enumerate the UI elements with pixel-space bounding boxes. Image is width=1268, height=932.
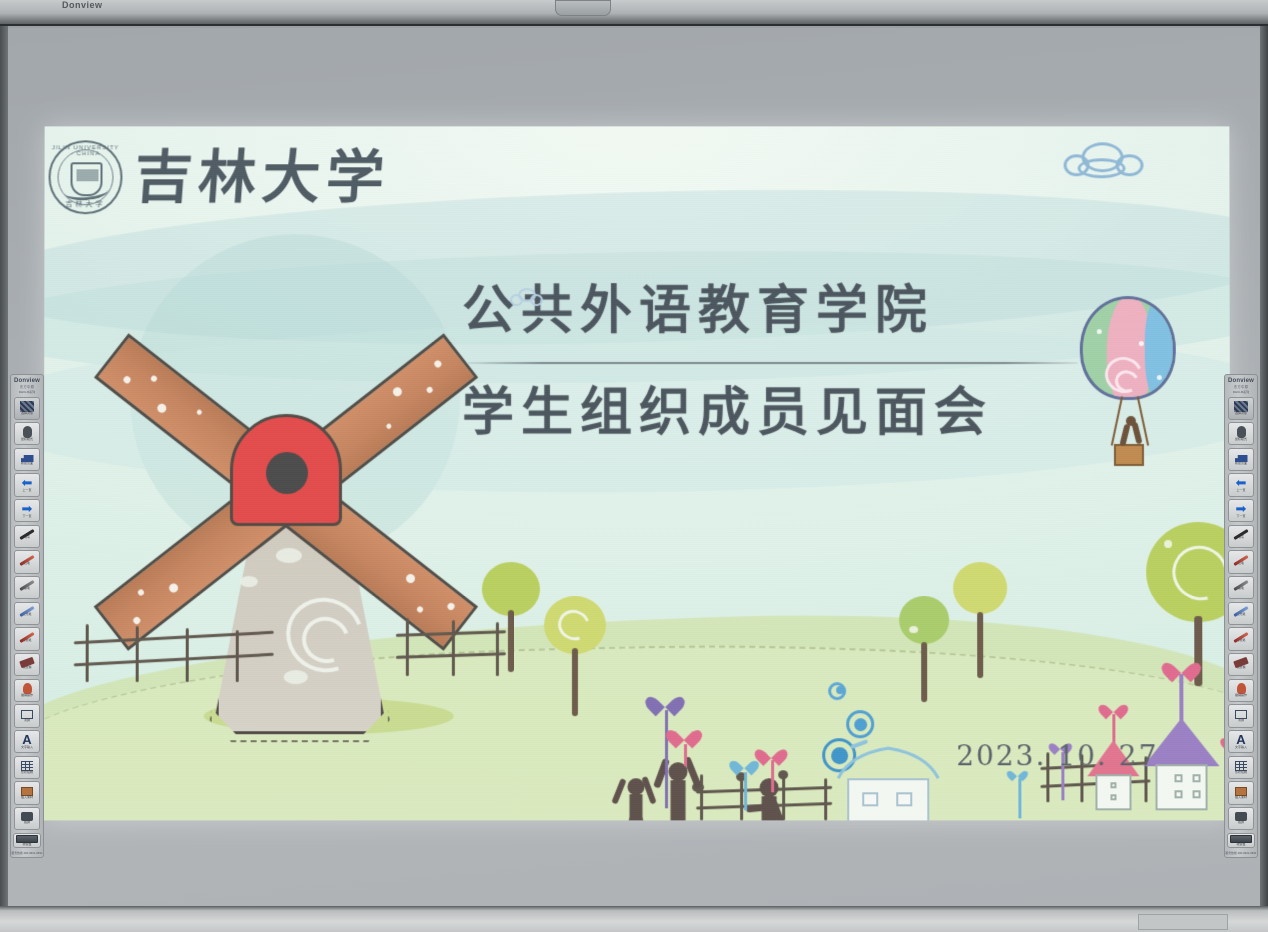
arrow-right-icon[interactable]: ➡ 下一页 xyxy=(1228,499,1254,522)
device-pen-tray xyxy=(0,906,1268,932)
clear-screen-icon[interactable]: 清屏 xyxy=(1228,704,1254,727)
smart-pen-icon[interactable]: 智能笔 xyxy=(1228,627,1254,650)
text-tool-icon[interactable]: A 文字输入 xyxy=(1228,730,1254,753)
resource-box-icon[interactable]: 插入素材 xyxy=(14,781,40,804)
pen-dark-icon[interactable]: 黑笔 xyxy=(14,576,40,599)
heart-balloon xyxy=(734,754,756,810)
mouse-icon[interactable]: 鼠标模式 xyxy=(1228,422,1254,445)
bubble-icon xyxy=(836,686,844,694)
device-right-bezel xyxy=(1260,26,1268,906)
keyboard-icon[interactable]: 软键盘 xyxy=(1227,833,1255,848)
person-figure xyxy=(616,762,656,820)
headline-line-2: 学生组织成员见面会 xyxy=(462,378,1102,448)
highlighter-icon[interactable]: 荧光笔 xyxy=(14,602,40,625)
arrow-right-icon[interactable]: ➡ 下一页 xyxy=(14,499,40,522)
pen-red-icon[interactable]: 红笔 xyxy=(14,550,40,573)
headline-divider xyxy=(468,362,1078,364)
toolbar-brand-sub: 东方中原 xyxy=(1225,384,1257,389)
tree-small xyxy=(952,562,1008,678)
shape-grid-icon[interactable]: 形状绘制 xyxy=(1228,756,1254,779)
house-outline-icon xyxy=(832,740,944,820)
seal-bottom-text: 吉林大学 xyxy=(50,199,120,209)
bubble-icon xyxy=(854,718,867,731)
device-left-bezel xyxy=(0,26,8,906)
text-tool-icon[interactable]: A 文字输入 xyxy=(14,730,40,753)
cloud-icon xyxy=(1064,142,1148,184)
eraser-icon[interactable]: 橡皮擦 xyxy=(14,653,40,676)
heart-flower xyxy=(1010,766,1028,818)
pen-dark-icon[interactable]: 黑笔 xyxy=(1228,576,1254,599)
arrow-left-icon[interactable]: ⬅ 上一页 xyxy=(1228,473,1254,496)
toolbar-left[interactable]: Donview 东方中原 DHIC-B系列 选择对象 鼠标模式 新建页面 ⬅ 上… xyxy=(10,374,44,858)
university-name: 吉林大学 xyxy=(132,146,392,208)
whiteboard-device: Donview JILIN UNIVERSITY · CHINA 吉林大学 吉林… xyxy=(0,0,1268,932)
toolbar-model: DHIC-B系列 xyxy=(1225,390,1257,394)
ir-sensor-module xyxy=(555,0,611,16)
projected-slide: JILIN UNIVERSITY · CHINA 吉林大学 吉林大学 xyxy=(43,126,1230,820)
device-brand-label: Donview xyxy=(62,0,103,10)
windmill-hub xyxy=(266,452,308,494)
select-tool-icon[interactable]: 选择对象 xyxy=(14,397,40,420)
heart-balloon xyxy=(672,722,698,766)
toolbar-right[interactable]: Donview 东方中原 DHIC-B系列 选择对象 鼠标模式 新建页面 ⬅ 上… xyxy=(1224,374,1258,858)
shape-grid-icon[interactable]: 形状绘制 xyxy=(14,756,40,779)
windmill-icon xyxy=(89,246,510,806)
tray-notch xyxy=(1138,914,1228,930)
pen-black-icon[interactable]: 书写 xyxy=(1228,525,1254,548)
toolbar-brand-sub: 东方中原 xyxy=(11,384,43,389)
toolbar-model: DHIC-B系列 xyxy=(11,390,43,394)
select-tool-icon[interactable]: 选择对象 xyxy=(1228,397,1254,420)
tree-small xyxy=(898,596,950,702)
smart-pen-icon[interactable]: 智能笔 xyxy=(14,627,40,650)
toolbar-footer-note: 服务热线 400-0901-0831 xyxy=(1226,851,1257,855)
device-top-bezel: Donview xyxy=(0,0,1268,26)
mouse-icon[interactable]: 鼠标模式 xyxy=(14,422,40,445)
screenshot-icon[interactable]: 截屏 xyxy=(14,807,40,830)
undo-icon[interactable]: 撤销操作 xyxy=(1228,679,1254,702)
toolbar-header: Donview 东方中原 DHIC-B系列 xyxy=(1225,377,1257,394)
cloud-icon xyxy=(510,288,544,308)
resource-box-icon[interactable]: 插入素材 xyxy=(1228,781,1254,804)
pen-red-icon[interactable]: 红笔 xyxy=(1228,550,1254,573)
keyboard-icon[interactable]: 软键盘 xyxy=(13,833,41,848)
page-add-icon[interactable]: 新建页面 xyxy=(1228,448,1254,471)
house-icon xyxy=(1142,654,1220,810)
slide-date: 2023. 10. 27 xyxy=(956,739,1158,772)
arrow-left-icon[interactable]: ⬅ 上一页 xyxy=(14,473,40,496)
slide-headline: 公共外语教育学院 学生组织成员见面会 xyxy=(462,276,1102,448)
heart-balloon xyxy=(760,742,784,792)
screenshot-icon[interactable]: 截屏 xyxy=(1228,807,1254,830)
toolbar-header: Donview 东方中原 DHIC-B系列 xyxy=(11,377,43,394)
undo-icon[interactable]: 撤销操作 xyxy=(14,679,40,702)
clear-screen-icon[interactable]: 清屏 xyxy=(14,704,40,727)
seal-top-text: JILIN UNIVERSITY · CHINA xyxy=(51,145,121,157)
university-logo: JILIN UNIVERSITY · CHINA 吉林大学 吉林大学 xyxy=(48,140,390,214)
headline-line-1: 公共外语教育学院 xyxy=(462,276,1102,346)
tree-lollipop xyxy=(542,596,608,716)
page-add-icon[interactable]: 新建页面 xyxy=(14,448,40,471)
university-seal-icon: JILIN UNIVERSITY · CHINA 吉林大学 xyxy=(48,140,122,214)
pen-black-icon[interactable]: 书写 xyxy=(14,525,40,548)
eraser-icon[interactable]: 橡皮擦 xyxy=(1228,653,1254,676)
tree-lollipop xyxy=(480,562,542,672)
toolbar-footer-note: 服务热线 400-0901-0831 xyxy=(12,851,43,855)
highlighter-icon[interactable]: 荧光笔 xyxy=(1228,602,1254,625)
fence-left xyxy=(74,624,274,684)
